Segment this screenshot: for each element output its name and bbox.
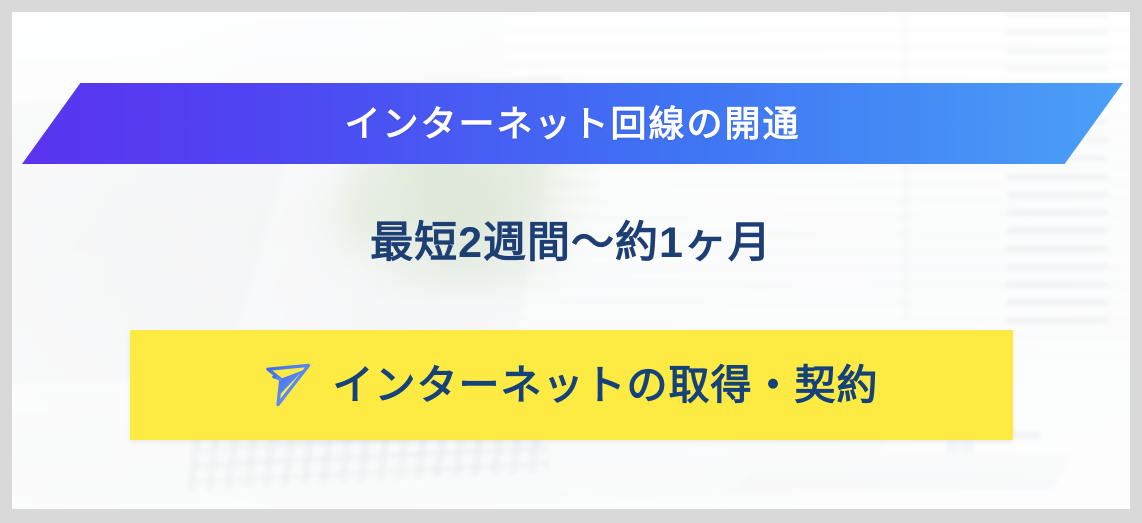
cta-bar[interactable]: インターネットの取得・契約 [130,330,1013,440]
paper-plane-icon [265,363,311,407]
banner-title: インターネット回線の開通 [344,106,800,142]
header-banner: インターネット回線の開通 [22,83,1123,164]
duration-subtitle: 最短2週間〜約1ヶ月 [0,222,1142,265]
cta-label: インターネットの取得・契約 [333,365,879,406]
infographic-card: インターネット回線の開通 最短2週間〜約1ヶ月 インターネットの取得・契約 [0,0,1142,523]
